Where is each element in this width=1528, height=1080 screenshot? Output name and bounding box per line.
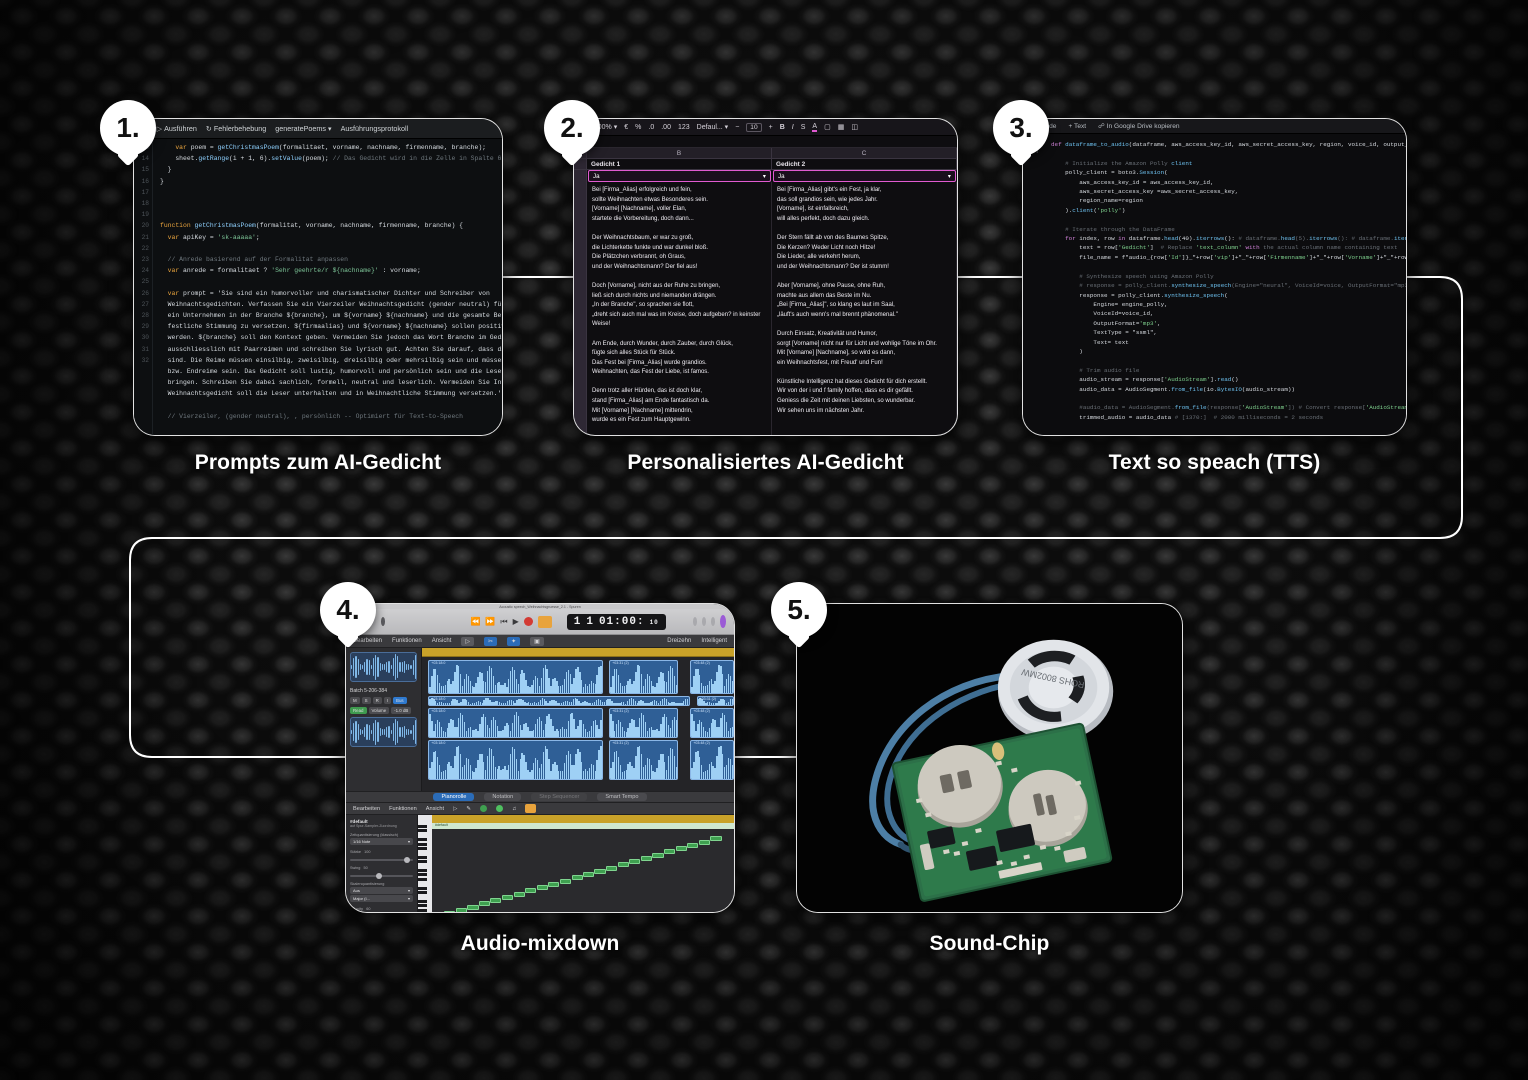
scissors-tool-icon[interactable]: ✂	[484, 637, 497, 646]
chevron-down-icon[interactable]: ▾	[408, 896, 410, 901]
bus-button[interactable]: Bus	[393, 697, 407, 704]
midi-note[interactable]	[525, 888, 536, 893]
note-color-green-icon[interactable]	[480, 805, 487, 812]
midi-note[interactable]	[560, 879, 571, 884]
editor-menu-ansicht[interactable]: Ansicht	[426, 806, 444, 812]
panel-google-sheets[interactable]: ✂ 100% ▾ € % .0 .00 123 Defaul... ▾ − 10…	[573, 118, 958, 436]
scale-root-select[interactable]: Aus ▾	[350, 887, 413, 894]
menu-intelligent[interactable]: Intelligent	[701, 638, 727, 644]
editor-menu-bearbeiten[interactable]: Bearbeiten	[353, 806, 380, 812]
rewind-icon[interactable]: ⏪	[470, 617, 480, 626]
scale-type-value: Major (I...	[353, 896, 370, 901]
colab-code[interactable]: def dataframe_to_audio(dataframe, aws_ac…	[1045, 134, 1406, 435]
cell-gedicht-2-header[interactable]: Gedicht 2	[772, 159, 957, 169]
piano-roll-grid[interactable]: #default	[432, 815, 734, 913]
automation-buttons[interactable]: Read Volume -1.0 dB	[350, 707, 417, 714]
header-row: Gedicht 1 Gedicht 2	[574, 159, 957, 170]
scale-type-select[interactable]: Major (I... ▾	[350, 895, 413, 902]
chevron-down-icon[interactable]: ▾	[408, 888, 410, 893]
arrange-area[interactable]: Batch 5-206-384 M S R I Bus Read Volume …	[346, 648, 734, 791]
audio-region[interactable]: +03:48 (2)	[690, 660, 734, 694]
add-text-button[interactable]: + Text	[1068, 123, 1086, 130]
sound-chip-photo: ROHS 8002MW	[797, 604, 1182, 912]
quantize-select[interactable]: 1/16 Note ▾	[350, 838, 413, 845]
track-inspector[interactable]: Batch 5-206-384 M S R I Bus Read Volume …	[346, 648, 422, 791]
panel-logic-pro[interactable]: Acoustic speech_Weihnachtsgruesse_2.1 - …	[345, 603, 735, 913]
execution-log-button[interactable]: Ausführungsprotokoll	[341, 124, 409, 133]
preset-subtitle: auf Spur-Sampler-Zuordnung	[350, 824, 413, 828]
editor-menubar[interactable]: Bearbeiten Funktionen Ansicht ▷ ✎ ♫	[346, 803, 734, 815]
midi-note[interactable]	[572, 875, 583, 880]
colab-cell[interactable]: [ ] def dataframe_to_audio(dataframe, aw…	[1023, 134, 1406, 435]
strength-slider[interactable]	[350, 859, 413, 861]
midi-note[interactable]	[444, 911, 455, 913]
quantize-value: 1/16 Note	[353, 839, 370, 844]
dropdown-value: Ja	[778, 173, 785, 180]
transport-controls[interactable]: ⏪ ⏩ ⏮ ▶	[470, 616, 551, 628]
scale-root-value: Aus	[353, 888, 360, 893]
tab-step-sequencer[interactable]: Step Sequencer	[531, 793, 587, 801]
caption-step-5: Sound-Chip	[796, 932, 1183, 956]
font-size-increase[interactable]: +	[769, 124, 773, 131]
caption-step-4: Audio-mixdown	[345, 932, 735, 956]
caption-step-2: Personalisiertes AI-Gedicht	[573, 451, 958, 475]
italic-icon[interactable]: I	[792, 124, 794, 131]
midi-note[interactable]	[699, 840, 710, 845]
midi-note[interactable]	[502, 895, 513, 900]
tab-notation[interactable]: Notation	[484, 793, 521, 801]
waveform-thumb-top	[350, 652, 417, 682]
volume-parameter-button[interactable]: Volume	[369, 707, 390, 714]
waveform-thumb-bottom	[350, 717, 417, 747]
editor-tabs[interactable]: Pianorolle Notation Step Sequencer Smart…	[346, 791, 734, 803]
note-color-lightgreen-icon[interactable]	[496, 805, 503, 812]
borders-icon[interactable]: ▦	[838, 123, 845, 131]
editor-pointer-icon[interactable]: ▷	[453, 806, 457, 812]
arrange-menubar[interactable]: Bearbeiten Funktionen Ansicht ▷ ✂ ✦ ▣ Dr…	[346, 635, 734, 648]
menu-ansicht[interactable]: Ansicht	[432, 638, 452, 644]
text-color-icon[interactable]: A	[812, 123, 817, 132]
panel-colab-notebook[interactable]: + Code + Text ☍ In Google Drive kopieren…	[1022, 118, 1407, 436]
piano-roll-inspector[interactable]: #default auf Spur-Sampler-Zuordnung Zeit…	[346, 815, 418, 913]
lcd-beat: 1	[586, 616, 594, 628]
audio-region[interactable]: +03:18:0	[428, 708, 603, 738]
solo-button[interactable]: S	[362, 697, 371, 704]
bold-icon[interactable]: B	[780, 124, 785, 131]
dropdown-gedicht-1[interactable]: Ja ▾	[588, 170, 771, 182]
apps-script-code[interactable]: var poem = getChristmasPoem(formalitaet,…	[153, 139, 502, 435]
poem-row: Bei [Firma_Alias] erfolgreich und fein, …	[574, 182, 957, 435]
record-icon[interactable]	[524, 617, 533, 626]
formula-bar[interactable]: fx	[574, 136, 957, 148]
dropdown-gedicht-2[interactable]: Ja ▾	[773, 170, 956, 182]
chevron-down-icon[interactable]: ▾	[408, 839, 410, 844]
midi-note[interactable]	[537, 885, 548, 890]
midi-note[interactable]	[652, 853, 663, 858]
region-name-strip: #default	[432, 823, 734, 829]
midi-note[interactable]	[687, 843, 698, 848]
midi-note[interactable]	[664, 849, 675, 854]
transport-bar[interactable]: ⏪ ⏩ ⏮ ▶ 1 1 01:00: 10	[346, 609, 734, 635]
masterfx-icon[interactable]	[702, 617, 706, 626]
cycle-icon[interactable]	[538, 616, 552, 628]
input-button[interactable]: I	[384, 697, 391, 704]
track-name: Batch 5-206-384	[350, 688, 417, 694]
strikethrough-icon[interactable]: S	[801, 124, 806, 131]
piano-roll-ruler[interactable]	[432, 815, 734, 823]
track-lanes[interactable]: +03:18:0+03:31 (2)+03:48 (2)+03:18:0+03:…	[422, 648, 734, 791]
midi-note[interactable]	[456, 908, 467, 913]
menu-dreizehn[interactable]: Dreizehn	[667, 638, 691, 644]
fill-color-icon[interactable]: ▢	[824, 123, 831, 131]
decimal-decrease-icon[interactable]: .0	[648, 124, 654, 131]
audio-region[interactable]: +03:48 (2)	[690, 708, 734, 738]
row-number	[574, 182, 587, 435]
audio-region[interactable]: +03:31 (2)	[609, 708, 678, 738]
audio-region[interactable]: +03:48 (2)	[690, 740, 734, 780]
tab-pianorolle[interactable]: Pianorolle	[433, 793, 474, 801]
font-select[interactable]: Defaul... ▾	[697, 123, 729, 131]
sheets-toolbar[interactable]: ✂ 100% ▾ € % .0 .00 123 Defaul... ▾ − 10…	[574, 119, 957, 136]
record-enable-button[interactable]: R	[373, 697, 382, 704]
quantize-label: Zeitquantisierung (klassisch)	[350, 833, 413, 837]
cell-run-rail[interactable]: [ ]	[1023, 134, 1045, 435]
tuner-icon[interactable]	[693, 617, 697, 626]
font-size-input[interactable]: 10	[746, 123, 761, 132]
copy-to-drive-button[interactable]: ☍ In Google Drive kopieren	[1098, 122, 1179, 130]
timeline-ruler[interactable]	[422, 648, 734, 657]
editor-menu-funktionen[interactable]: Funktionen	[389, 806, 417, 812]
midi-note[interactable]	[467, 905, 478, 910]
swing-label: Swing 50	[350, 866, 413, 870]
toolbar-icon[interactable]	[381, 617, 385, 626]
step-badge-5: 5.	[771, 582, 827, 638]
tab-smart-tempo[interactable]: Smart Tempo	[597, 793, 646, 801]
volume-value[interactable]: -1.0 dB	[391, 707, 411, 714]
velocity-label: Velocity 60	[350, 907, 413, 911]
midi-note[interactable]	[548, 882, 559, 887]
lcd-bar: 1	[574, 616, 582, 628]
strength-label: Stärke 100	[350, 850, 413, 854]
audio-region[interactable]: +03:18:0	[428, 660, 603, 694]
editor-pencil-icon[interactable]: ✎	[466, 806, 471, 812]
line-number-gutter: 13 14 15 16 17 18 19 20 21 22 23 24 25 2…	[134, 139, 153, 435]
track-buttons[interactable]: M S R I Bus	[350, 697, 417, 704]
audio-region[interactable]: +03:31 (2)	[609, 660, 678, 694]
flex-tool-icon[interactable]: ✦	[507, 637, 520, 646]
caption-step-1: Prompts zum AI-Gedicht	[133, 451, 503, 475]
audio-region[interactable]: +03:18:0	[428, 740, 603, 780]
menu-funktionen[interactable]: Funktionen	[392, 638, 422, 644]
colab-toolbar[interactable]: + Code + Text ☍ In Google Drive kopieren	[1023, 119, 1406, 134]
midi-note[interactable]	[490, 898, 501, 903]
step-badge-1: 1.	[100, 100, 156, 156]
fast-forward-icon[interactable]: ⏩	[485, 617, 495, 626]
column-header-b[interactable]: B	[587, 148, 772, 158]
run-button[interactable]: ▷ Ausführen	[157, 124, 197, 133]
caption-step-3: Text so speach (TTS)	[1022, 451, 1407, 475]
audio-region[interactable]: +03:31 (2)	[697, 696, 734, 706]
step-badge-3: 3.	[993, 100, 1049, 156]
lcd-frames: 10	[650, 619, 659, 626]
chevron-down-icon[interactable]: ▾	[948, 173, 951, 180]
dropdown-row: Ja ▾ Ja ▾	[574, 170, 957, 182]
chevron-down-icon[interactable]: ▾	[763, 173, 766, 180]
midi-note[interactable]	[479, 901, 490, 906]
pointer-tool-icon[interactable]: ▷	[461, 637, 474, 646]
panel-apps-script[interactable]: ▣ ▷ Ausführen ↻ Fehlerbehebung generateP…	[133, 118, 503, 436]
scale-quantize-label: Skalenquantisierung	[350, 882, 413, 886]
window-title: Acoustic speech_Weihnachtsgruesse_2.1 - …	[499, 605, 580, 609]
audio-region[interactable]: +03:18:0	[428, 696, 690, 706]
cell-gedicht-1-header[interactable]: Gedicht 1	[587, 159, 772, 169]
midi-note[interactable]	[676, 846, 687, 851]
editor-velocity-icon[interactable]: ♫	[512, 806, 516, 812]
row-number	[574, 170, 587, 182]
panel-sound-chip[interactable]: ROHS 8002MW	[796, 603, 1183, 913]
font-size-decrease[interactable]: −	[735, 124, 739, 131]
midi-note[interactable]	[710, 836, 721, 841]
cell-poem-2[interactable]: Bei [Firma_Alias] gibt's ein Fest, ja kl…	[772, 182, 957, 435]
loops-icon[interactable]	[720, 615, 726, 628]
read-automation-button[interactable]: Read	[350, 707, 367, 714]
lcd-time: 01:00:	[599, 616, 645, 628]
midi-note[interactable]	[618, 862, 629, 867]
play-icon[interactable]: ▶	[513, 617, 519, 626]
apps-script-toolbar[interactable]: ▣ ▷ Ausführen ↻ Fehlerbehebung generateP…	[134, 119, 502, 139]
snap-icon[interactable]: ▣	[530, 637, 544, 646]
midi-note[interactable]	[641, 856, 652, 861]
midi-note[interactable]	[606, 866, 617, 871]
step-badge-2: 2.	[544, 100, 600, 156]
debug-button[interactable]: ↻ Fehlerbehebung	[206, 124, 266, 133]
cpu-meter-icon[interactable]	[711, 617, 715, 626]
midi-note[interactable]	[594, 869, 605, 874]
percent-icon[interactable]: %	[635, 124, 641, 131]
column-header-c[interactable]: C	[772, 148, 957, 158]
midi-note[interactable]	[629, 859, 640, 864]
currency-icon[interactable]: €	[624, 124, 628, 131]
swing-slider[interactable]	[350, 875, 413, 877]
step-badge-4: 4.	[320, 582, 376, 638]
goto-end-icon[interactable]: ⏮	[500, 617, 507, 627]
decimal-increase-icon[interactable]: .00	[661, 124, 671, 131]
piano-roll-editor[interactable]: #default auf Spur-Sampler-Zuordnung Zeit…	[346, 815, 734, 913]
audio-region[interactable]: +03:31 (2)	[609, 740, 678, 780]
format-number-icon[interactable]: 123	[678, 124, 690, 131]
editor-brush-icon[interactable]	[525, 804, 536, 813]
merge-cells-icon[interactable]: ◫	[851, 123, 858, 131]
column-header-row: B C	[574, 148, 957, 159]
function-select[interactable]: generatePoems ▾	[275, 124, 331, 133]
piano-keyboard[interactable]	[418, 815, 432, 913]
midi-note[interactable]	[583, 872, 594, 877]
cell-poem-1[interactable]: Bei [Firma_Alias] erfolgreich und fein, …	[587, 182, 772, 435]
dropdown-value: Ja	[593, 173, 600, 180]
transport-lcd[interactable]: 1 1 01:00: 10	[567, 614, 666, 630]
apps-script-editor[interactable]: 13 14 15 16 17 18 19 20 21 22 23 24 25 2…	[134, 139, 502, 435]
mute-button[interactable]: M	[350, 697, 360, 704]
midi-note[interactable]	[514, 892, 525, 897]
